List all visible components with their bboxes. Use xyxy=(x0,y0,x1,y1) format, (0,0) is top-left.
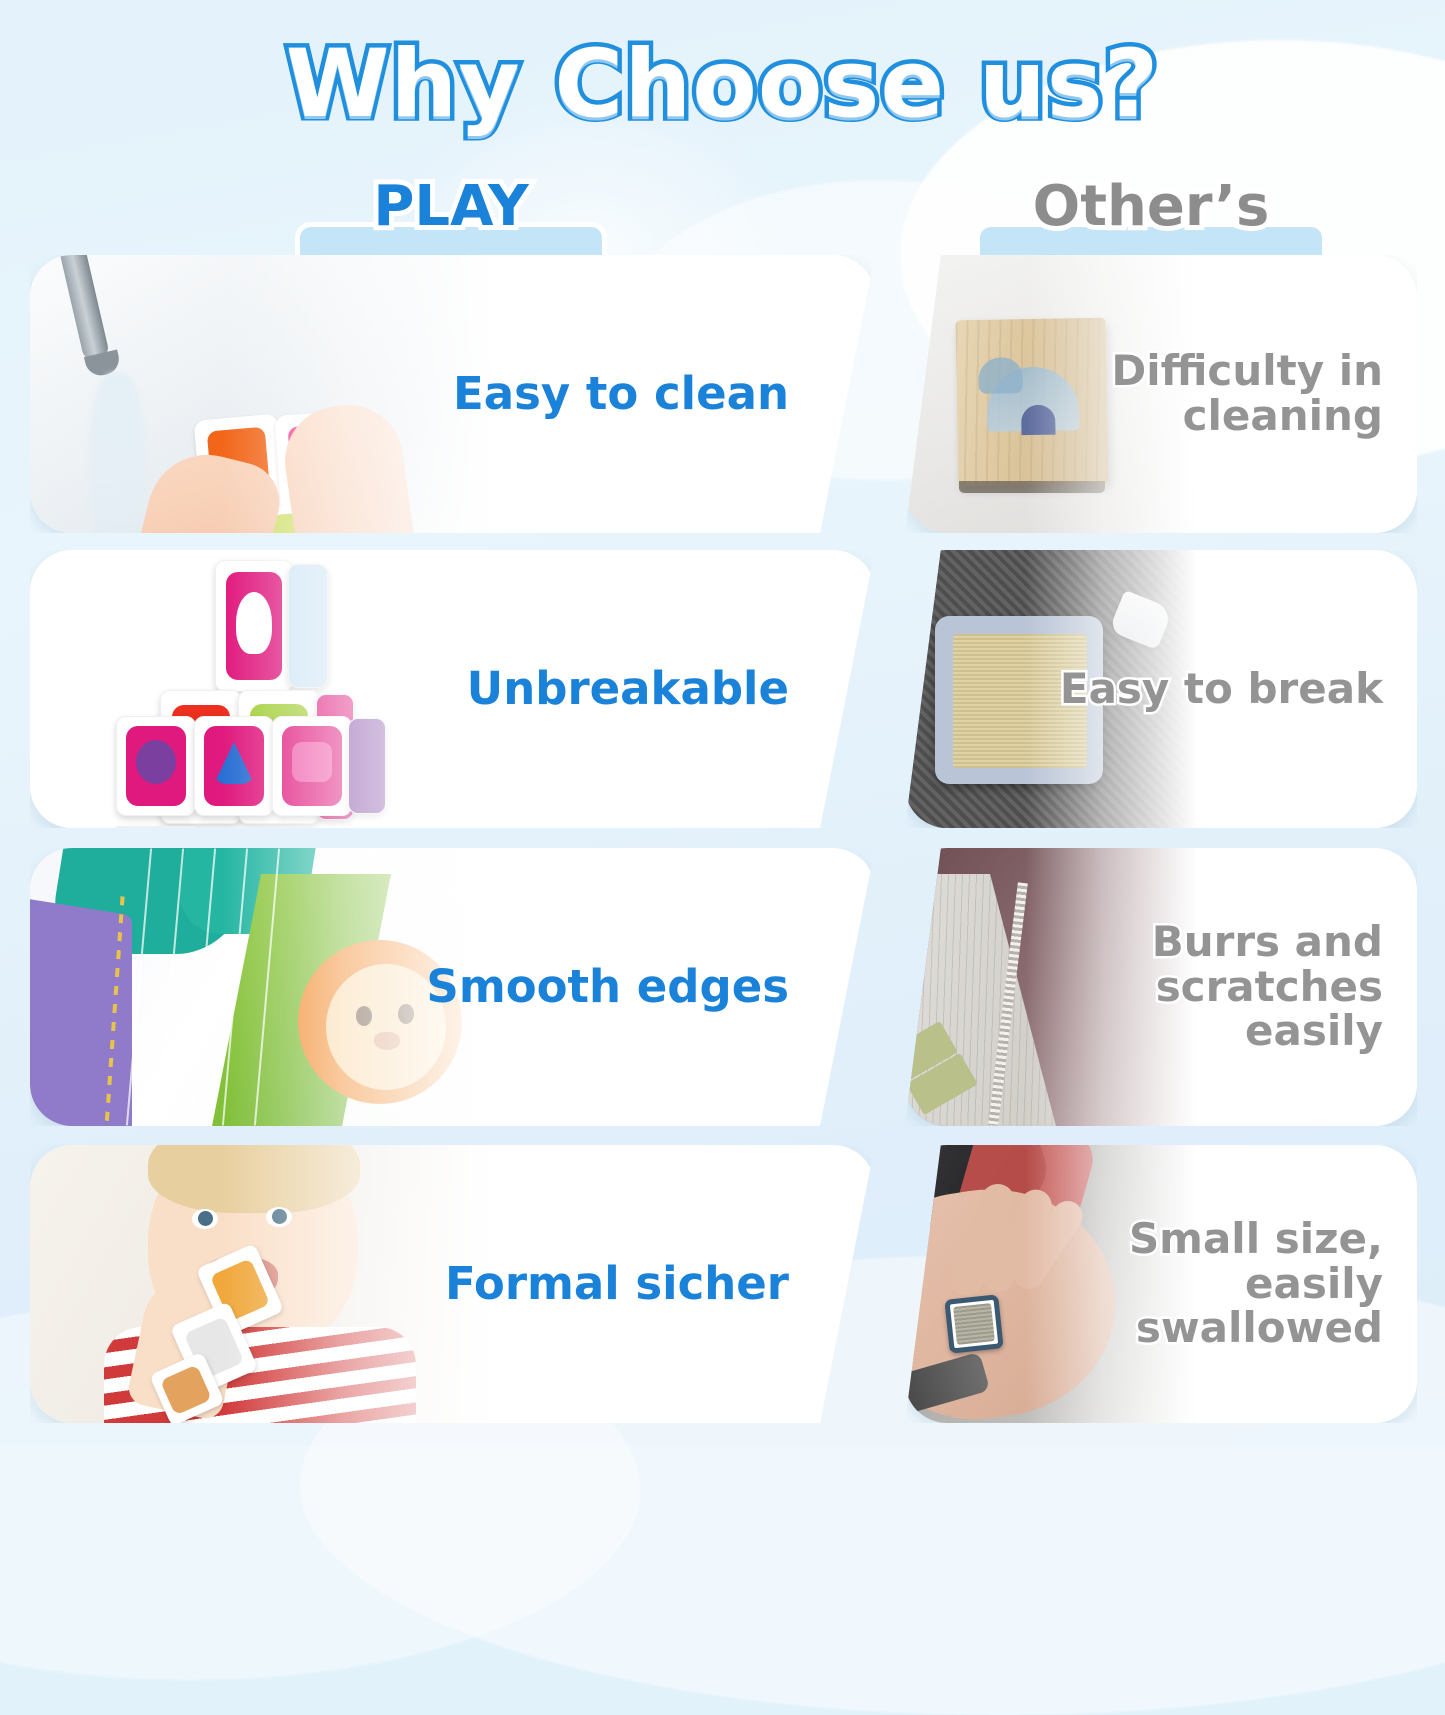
feature-card-ours[interactable]: Unbreakable xyxy=(30,550,875,828)
comparison-row: Formal sicher Small size, easily swallow… xyxy=(0,1145,1445,1423)
page-title: Why Choose us? xyxy=(0,30,1445,139)
comparison-infographic: Why Choose us? PLAY Other’s Easy to clea… xyxy=(0,0,1445,1445)
feature-card-theirs[interactable]: Difficulty in cleaning xyxy=(905,255,1417,533)
feature-card-ours[interactable]: Formal sicher xyxy=(30,1145,875,1423)
column-label-ours: PLAY xyxy=(295,174,607,239)
feature-caption-theirs: Difficulty in cleaning xyxy=(1053,255,1383,533)
comparison-row: Easy to clean Difficulty in cleaning xyxy=(0,255,1445,533)
column-label-theirs: Other’s xyxy=(975,174,1327,239)
comparison-row: Smooth edges Burrs and scratches easily xyxy=(0,848,1445,1126)
feature-caption-ours: Smooth edges xyxy=(369,848,789,1126)
feature-caption-ours: Formal sicher xyxy=(369,1145,789,1423)
feature-caption-ours: Unbreakable xyxy=(369,550,789,828)
comparison-row: Unbreakable Easy to break xyxy=(0,550,1445,828)
feature-card-ours[interactable]: Easy to clean xyxy=(30,255,875,533)
feature-caption-theirs: Small size, easily swallowed xyxy=(1053,1145,1383,1423)
feature-card-ours[interactable]: Smooth edges xyxy=(30,848,875,1126)
feature-card-theirs[interactable]: Small size, easily swallowed xyxy=(905,1145,1417,1423)
feature-card-theirs[interactable]: Burrs and scratches easily xyxy=(905,848,1417,1126)
feature-caption-theirs: Burrs and scratches easily xyxy=(1053,848,1383,1126)
feature-caption-theirs: Easy to break xyxy=(1053,550,1383,828)
feature-card-theirs[interactable]: Easy to break xyxy=(905,550,1417,828)
feature-caption-ours: Easy to clean xyxy=(369,255,789,533)
